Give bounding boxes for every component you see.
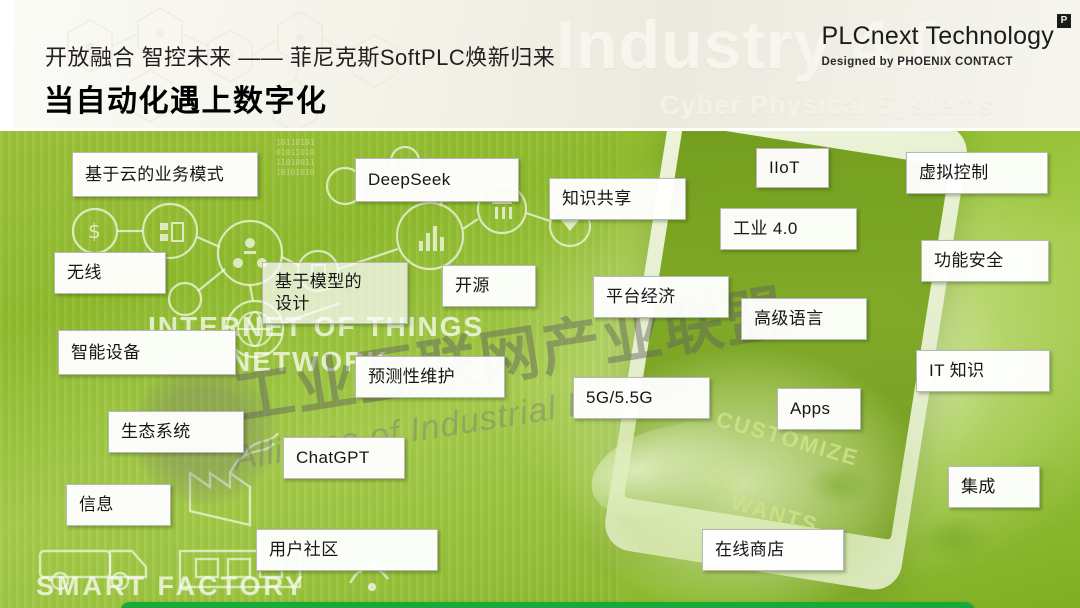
- keyword-label[interactable]: 基于模型的 设计: [262, 262, 408, 324]
- keyword-label-text: IT 知识: [929, 360, 985, 382]
- smart-factory-text: SMART FACTORY: [36, 571, 306, 602]
- keyword-label-text: 智能设备: [71, 342, 141, 364]
- svg-text:$: $: [88, 219, 101, 243]
- keyword-label[interactable]: 功能安全: [921, 240, 1049, 282]
- brand-name-text: PLCnext Technology: [822, 22, 1054, 50]
- keyword-label-text: DeepSeek: [368, 169, 451, 191]
- keyword-label-text: 虚拟控制: [919, 162, 989, 184]
- svg-text:10110101: 10110101: [276, 138, 315, 147]
- keyword-label[interactable]: 集成: [948, 466, 1040, 508]
- svg-text:11010011: 11010011: [276, 158, 315, 167]
- keyword-label[interactable]: 知识共享: [549, 178, 686, 220]
- slide-body-photo: CUSTOMIZE CU WANTS: [0, 131, 1080, 608]
- keyword-label[interactable]: 信息: [66, 484, 171, 526]
- svg-text:01011010: 01011010: [276, 148, 315, 157]
- plcnext-brand-logo: PLCnext Technology P Designed by PHOENIX…: [822, 22, 1054, 68]
- page-title: 当自动化遇上数字化: [44, 76, 328, 120]
- keyword-label[interactable]: 开源: [442, 265, 536, 307]
- keyword-label-text: 工业 4.0: [733, 218, 798, 240]
- keyword-label[interactable]: 高级语言: [741, 298, 867, 340]
- keyword-label-text: 无线: [67, 262, 102, 284]
- header-left-accent-bar: [0, 0, 14, 130]
- keyword-label-text: 平台经济: [606, 286, 676, 308]
- keyword-label[interactable]: 用户社区: [256, 529, 438, 571]
- header-watermark-cps: Cyber Physical Systems: [660, 90, 994, 121]
- keyword-label[interactable]: IIoT: [756, 148, 829, 188]
- keyword-label-text: 用户社区: [269, 539, 339, 561]
- keyword-label-text: Apps: [790, 398, 830, 420]
- brand-tagline: Designed by PHOENIX CONTACT: [822, 56, 1054, 68]
- keyword-label-text: 开源: [455, 275, 490, 297]
- keyword-label[interactable]: Apps: [777, 388, 861, 430]
- keyword-label-text: 高级语言: [754, 308, 824, 330]
- keyword-label-text: 知识共享: [562, 188, 632, 210]
- keyword-label[interactable]: 基于云的业务模式: [72, 152, 258, 197]
- keyword-label-text: 基于模型的 设计: [275, 271, 362, 315]
- keyword-label[interactable]: 在线商店: [702, 529, 844, 571]
- keyword-label[interactable]: 生态系统: [108, 411, 244, 453]
- highlight-banner: 数字工业时代——OT/IT/CT/DT技术加速融合演进: [120, 602, 975, 608]
- keyword-label[interactable]: DeepSeek: [355, 158, 519, 202]
- keyword-label[interactable]: IT 知识: [916, 350, 1050, 392]
- keyword-label[interactable]: 5G/5.5G: [573, 377, 710, 419]
- keyword-label-text: 5G/5.5G: [586, 387, 653, 409]
- header-divider: [0, 128, 1080, 130]
- brand-name: PLCnext Technology P: [822, 22, 1054, 51]
- keyword-label[interactable]: 预测性维护: [355, 356, 505, 398]
- keyword-label-text: 生态系统: [121, 421, 191, 443]
- keyword-label-text: ChatGPT: [296, 447, 370, 469]
- keyword-label-text: 信息: [79, 494, 114, 516]
- keyword-label[interactable]: 工业 4.0: [720, 208, 857, 250]
- keyword-label-text: 集成: [961, 476, 996, 498]
- keyword-label[interactable]: 虚拟控制: [906, 152, 1048, 194]
- registered-mark-icon: P: [1057, 14, 1071, 28]
- keyword-label-text: IIoT: [769, 157, 800, 179]
- slide-header: Industry 4.0 Cyber Physical Systems 开放融合…: [0, 0, 1080, 130]
- keyword-label-text: 功能安全: [934, 250, 1004, 272]
- keyword-label-text: 在线商店: [715, 539, 785, 561]
- keyword-label-text: 基于云的业务模式: [85, 164, 224, 186]
- header-subtitle: 开放融合 智控未来 —— 菲尼克斯SoftPLC焕新归来: [45, 40, 555, 72]
- slide: Industry 4.0 Cyber Physical Systems 开放融合…: [0, 0, 1080, 608]
- svg-text:10101010: 10101010: [276, 168, 315, 177]
- keyword-label[interactable]: ChatGPT: [283, 437, 405, 479]
- keyword-label[interactable]: 平台经济: [593, 276, 729, 318]
- keyword-label[interactable]: 智能设备: [58, 330, 236, 375]
- keyword-label[interactable]: 无线: [54, 252, 166, 294]
- keyword-label-text: 预测性维护: [368, 366, 455, 388]
